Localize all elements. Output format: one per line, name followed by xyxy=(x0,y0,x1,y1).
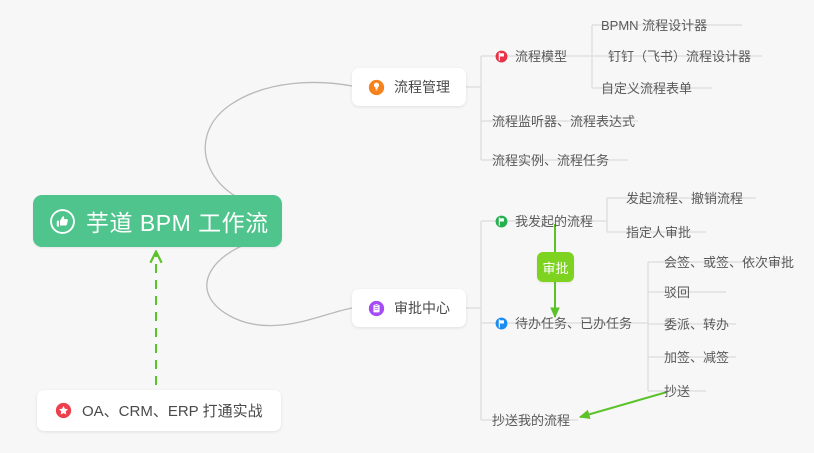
leaf-label-countersign: 会签、或签、依次审批 xyxy=(664,256,794,269)
branch-node-approval-center[interactable]: 审批中心 xyxy=(352,289,466,327)
leaf-label-carbon-copy: 抄送 xyxy=(664,385,690,398)
connector-root-to-approval-center xyxy=(207,235,352,326)
leaf-custom-form[interactable]: 自定义流程表单 xyxy=(601,77,692,99)
leaf-label-custom-form: 自定义流程表单 xyxy=(601,82,692,95)
leaf-label-todo-done-tasks: 待办任务、已办任务 xyxy=(515,317,632,330)
leaf-my-initiated[interactable]: 我发起的流程 xyxy=(495,210,593,232)
root-label: 芋道 BPM 工作流 xyxy=(86,204,269,238)
leaf-label-reject: 驳回 xyxy=(664,286,690,299)
red-flag-icon xyxy=(495,50,508,63)
blue-flag-icon xyxy=(495,317,508,330)
leaf-label-cc-to-me: 抄送我的流程 xyxy=(492,414,570,427)
leaf-bpmn-designer[interactable]: BPMN 流程设计器 xyxy=(601,14,707,36)
leaf-add-remove-sign[interactable]: 加签、减签 xyxy=(664,346,729,368)
green-flag-icon xyxy=(495,215,508,228)
leaf-label-process-listener: 流程监听器、流程表达式 xyxy=(492,115,635,128)
location-pin-icon xyxy=(368,79,385,96)
leaf-process-model[interactable]: 流程模型 xyxy=(495,45,567,67)
red-star-icon xyxy=(55,402,72,419)
leaf-label-delegate-transfer: 委派、转办 xyxy=(664,318,729,331)
mindmap-canvas: 芋道 BPM 工作流 流程管理 审批中心 xyxy=(0,0,814,453)
thumbs-up-icon xyxy=(50,209,75,234)
leaf-carbon-copy[interactable]: 抄送 xyxy=(664,380,690,402)
branch-node-process-management[interactable]: 流程管理 xyxy=(352,68,466,106)
leaf-label-add-remove-sign: 加签、减签 xyxy=(664,351,729,364)
leaf-delegate-transfer[interactable]: 委派、转办 xyxy=(664,313,729,335)
leaf-label-assignee-approval: 指定人审批 xyxy=(626,226,691,239)
leaf-cc-to-me[interactable]: 抄送我的流程 xyxy=(492,409,570,431)
leaf-process-instance[interactable]: 流程实例、流程任务 xyxy=(492,149,609,171)
leaf-label-process-instance: 流程实例、流程任务 xyxy=(492,154,609,167)
leaf-label-bpmn-designer: BPMN 流程设计器 xyxy=(601,19,707,32)
integration-note-label: OA、CRM、ERP 打通实战 xyxy=(82,400,263,421)
approval-badge-label: 审批 xyxy=(542,258,568,277)
arrow-cc-flow xyxy=(580,392,667,417)
leaf-reject[interactable]: 驳回 xyxy=(664,281,690,303)
approval-badge: 审批 xyxy=(537,252,574,282)
connector-root-to-process-management xyxy=(205,82,352,210)
leaf-label-process-model: 流程模型 xyxy=(515,50,567,63)
branch-label-process-management: 流程管理 xyxy=(394,77,450,97)
leaf-start-cancel-process[interactable]: 发起流程、撤销流程 xyxy=(626,187,743,209)
leaf-countersign[interactable]: 会签、或签、依次审批 xyxy=(664,251,794,273)
leaf-dingtalk-feishu-designer[interactable]: 钉钉（飞书）流程设计器 xyxy=(608,45,751,67)
clipboard-icon xyxy=(368,300,385,317)
root-node[interactable]: 芋道 BPM 工作流 xyxy=(33,195,282,247)
leaf-todo-done-tasks[interactable]: 待办任务、已办任务 xyxy=(495,312,632,334)
leaf-label-start-cancel-process: 发起流程、撤销流程 xyxy=(626,192,743,205)
branch-label-approval-center: 审批中心 xyxy=(394,298,450,318)
leaf-assignee-approval[interactable]: 指定人审批 xyxy=(626,221,691,243)
leaf-label-my-initiated: 我发起的流程 xyxy=(515,215,593,228)
leaf-process-listener[interactable]: 流程监听器、流程表达式 xyxy=(492,110,635,132)
integration-note-node[interactable]: OA、CRM、ERP 打通实战 xyxy=(37,390,281,431)
leaf-label-dingtalk-feishu-designer: 钉钉（飞书）流程设计器 xyxy=(608,50,751,63)
